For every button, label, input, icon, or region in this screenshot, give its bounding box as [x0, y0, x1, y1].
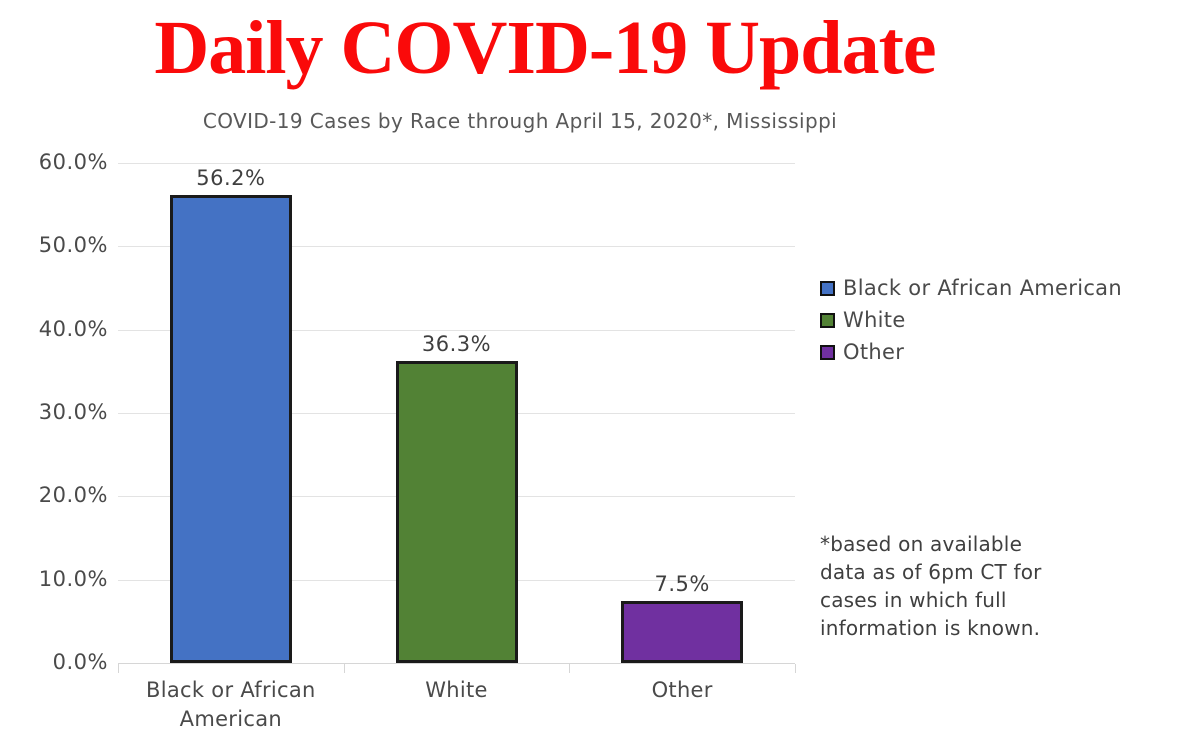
y-axis-tick-label: 60.0% [8, 152, 108, 173]
y-axis-tick-label: 50.0% [8, 235, 108, 256]
x-axis-tick [344, 664, 345, 673]
bar-value-label: 7.5% [581, 573, 783, 595]
legend-item[interactable]: White [820, 304, 1122, 336]
y-axis-tick-label: 10.0% [8, 569, 108, 590]
x-axis-line [118, 663, 795, 664]
y-axis-tick-label: 40.0% [8, 319, 108, 340]
bar[interactable] [621, 601, 743, 664]
slide-canvas: Daily COVID-19 Update COVID-19 Cases by … [0, 0, 1200, 750]
bar-value-label: 56.2% [130, 167, 332, 189]
legend-item[interactable]: Black or African American [820, 272, 1122, 304]
y-axis-tick-label: 30.0% [8, 402, 108, 423]
bar-group: 7.5% [621, 163, 743, 663]
chart-legend: Black or African AmericanWhiteOther [820, 272, 1122, 368]
legend-swatch-icon [820, 345, 835, 360]
legend-item-label: Black or African American [843, 276, 1122, 300]
bar-value-label: 36.3% [356, 333, 558, 355]
x-axis-tick [569, 664, 570, 673]
footnote-text: *based on available data as of 6pm CT fo… [820, 530, 1050, 642]
x-axis-tick [795, 664, 796, 673]
x-axis-tick-label: Other [569, 676, 795, 705]
legend-item[interactable]: Other [820, 336, 1122, 368]
y-axis: 60.0%50.0%40.0%30.0%20.0%10.0%0.0% [0, 0, 108, 750]
page-title: Daily COVID-19 Update [0, 2, 1090, 94]
x-axis-tick-label: White [344, 676, 570, 705]
y-axis-tick-label: 0.0% [8, 652, 108, 673]
legend-swatch-icon [820, 313, 835, 328]
legend-item-label: Other [843, 340, 904, 364]
chart-title: COVID-19 Cases by Race through April 15,… [0, 108, 1040, 134]
y-axis-tick-label: 20.0% [8, 485, 108, 506]
bar-group: 36.3% [396, 163, 518, 663]
x-axis-tick-label: Black or African American [118, 676, 344, 734]
legend-swatch-icon [820, 281, 835, 296]
bar-group: 56.2% [170, 163, 292, 663]
bar[interactable] [170, 195, 292, 663]
bar[interactable] [396, 361, 518, 664]
legend-item-label: White [843, 308, 906, 332]
plot-area: 56.2%36.3%7.5% [118, 163, 795, 663]
x-axis-tick [118, 664, 119, 673]
